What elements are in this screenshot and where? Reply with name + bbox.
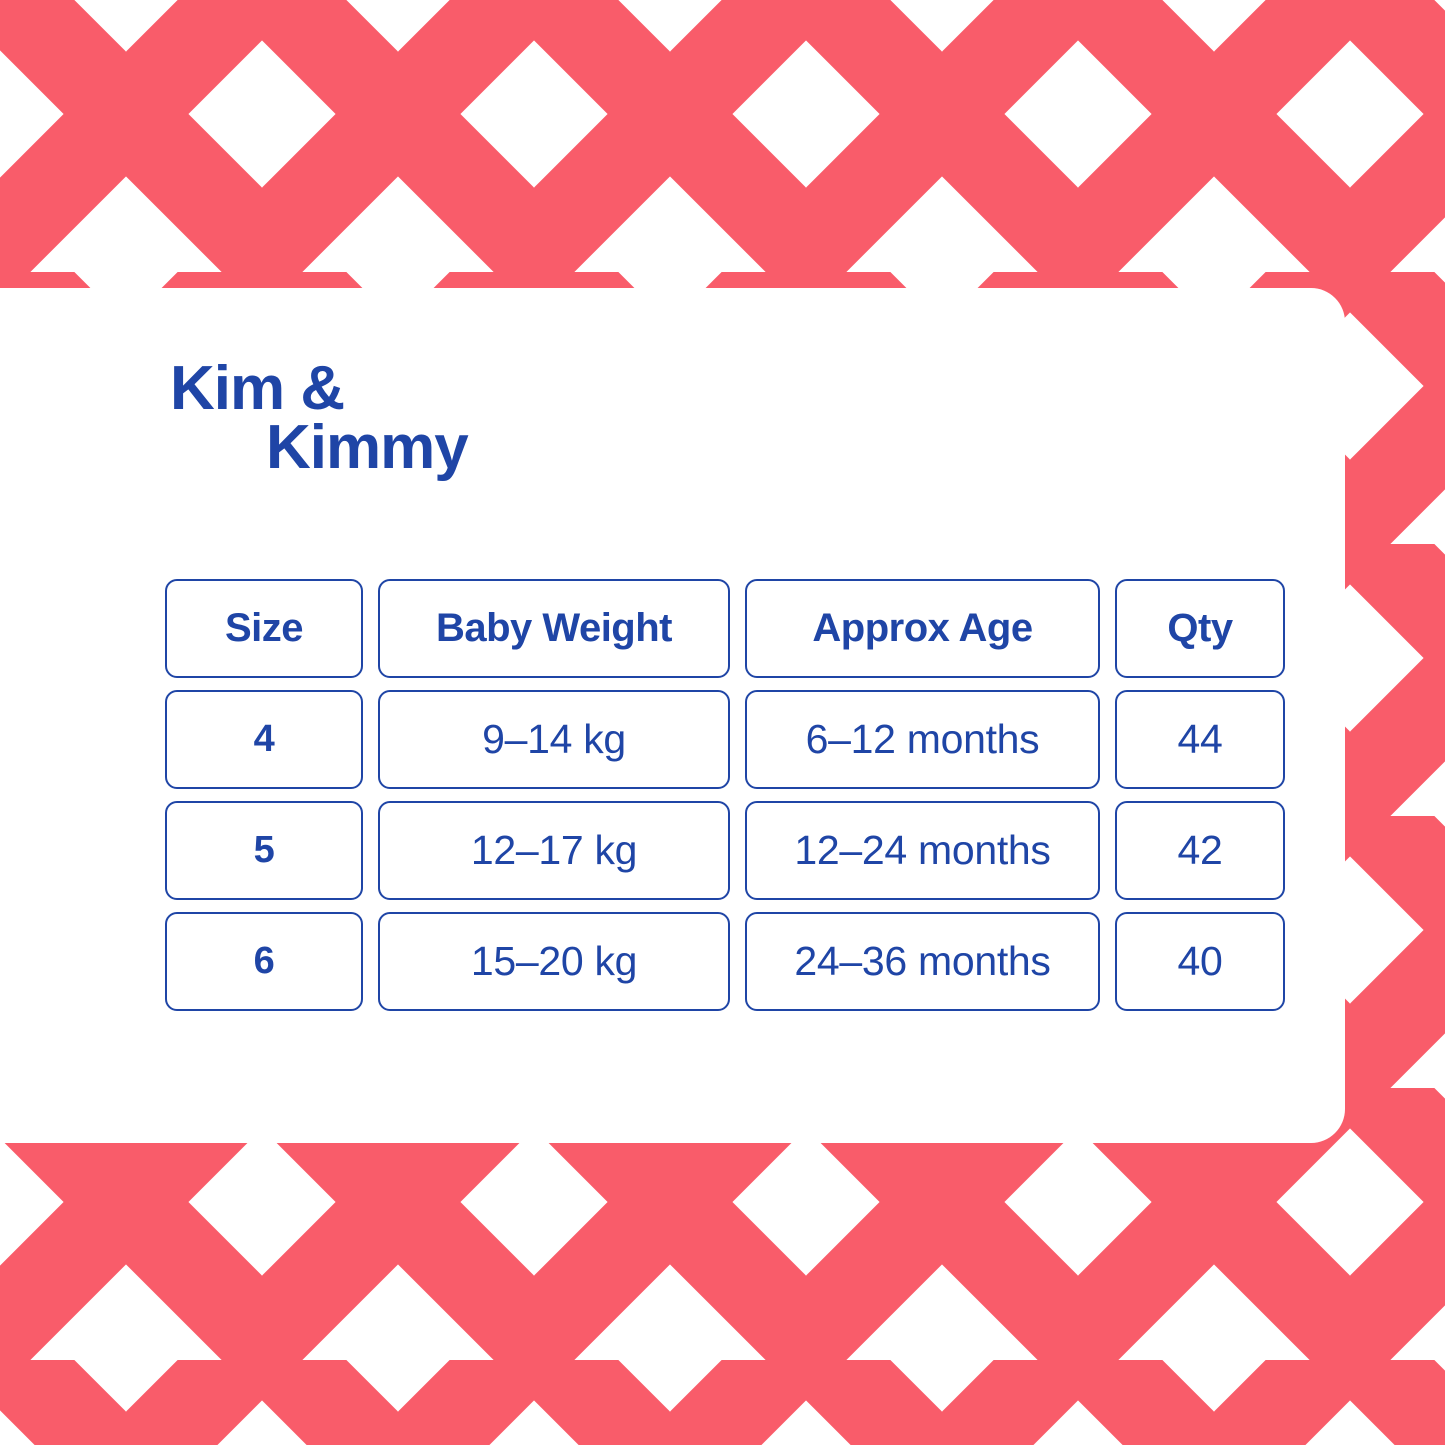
cell-size: 4 xyxy=(165,690,363,789)
cell-age: 6–12 months xyxy=(745,690,1100,789)
cell-qty: 44 xyxy=(1115,690,1285,789)
cell-size: 5 xyxy=(165,801,363,900)
table-row: 6 15–20 kg 24–36 months 40 xyxy=(165,912,1285,1011)
cell-age: 12–24 months xyxy=(745,801,1100,900)
cell-size: 6 xyxy=(165,912,363,1011)
table-row: 5 12–17 kg 12–24 months 42 xyxy=(165,801,1285,900)
size-guide-table: Size Baby Weight Approx Age Qty 4 9–14 k… xyxy=(150,567,1300,1023)
brand-logo-line-2: Kimmy xyxy=(170,419,530,478)
card-header: Kim & Kimmy xyxy=(0,288,1345,558)
cell-weight: 9–14 kg xyxy=(378,690,730,789)
cell-qty: 40 xyxy=(1115,912,1285,1011)
column-header-weight: Baby Weight xyxy=(378,579,730,678)
cell-qty: 42 xyxy=(1115,801,1285,900)
column-header-qty: Qty xyxy=(1115,579,1285,678)
cell-weight: 12–17 kg xyxy=(378,801,730,900)
column-header-size: Size xyxy=(165,579,363,678)
cell-age: 24–36 months xyxy=(745,912,1100,1011)
table-row: 4 9–14 kg 6–12 months 44 xyxy=(165,690,1285,789)
cell-weight: 15–20 kg xyxy=(378,912,730,1011)
table-header-row: Size Baby Weight Approx Age Qty xyxy=(165,579,1285,678)
column-header-age: Approx Age xyxy=(745,579,1100,678)
size-guide-infographic: Kim & Kimmy SIZE GUIDE & QUANTITIES Size… xyxy=(0,0,1445,1445)
brand-logo: Kim & Kimmy xyxy=(170,360,530,478)
brand-logo-line-1: Kim & xyxy=(170,360,530,419)
